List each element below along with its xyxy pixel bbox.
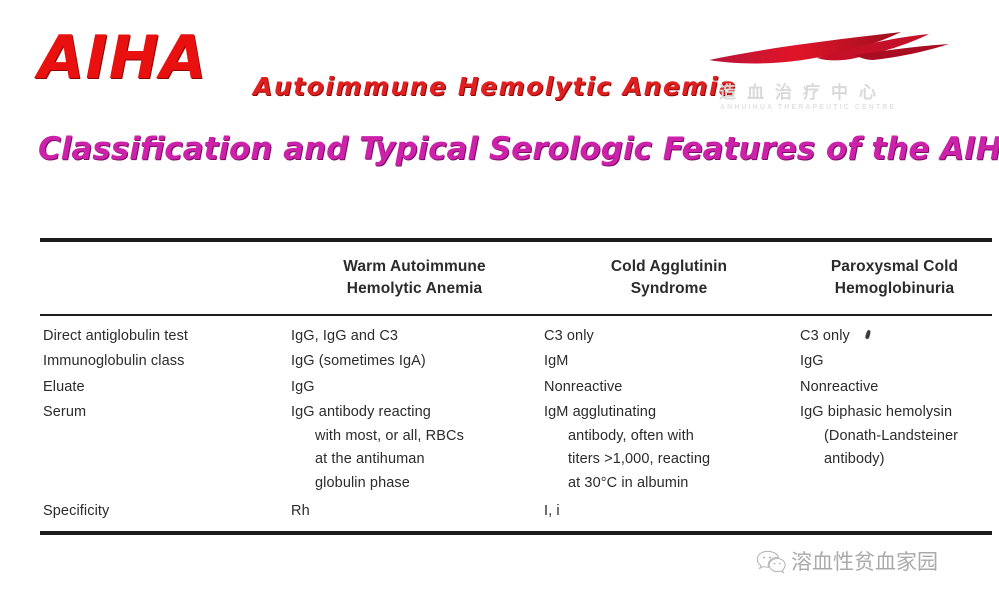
cell-line: I, i: [544, 500, 791, 523]
column-header-cold-line1: Cold Agglutinin: [545, 256, 793, 278]
row-label: Specificity: [40, 496, 288, 532]
row-cell-pch: C3 only: [797, 315, 992, 349]
column-header-warm-line2: Hemolytic Anemia: [292, 278, 537, 300]
table-header: Warm Autoimmune Hemolytic Anemia Cold Ag…: [40, 240, 992, 315]
row-cell-warm: Rh: [288, 496, 541, 532]
row-cell-pch: IgG biphasic hemolysin (Donath-Landstein…: [797, 400, 992, 496]
cell-line: C3 only: [544, 325, 791, 348]
cell-line: titers >1,000, reacting: [544, 448, 791, 471]
logo-chinese-text: 造血治疗中心: [719, 84, 969, 103]
row-cell-pch: Nonreactive: [797, 375, 992, 400]
slide-canvas: AIHA Autoimmune Hemolytic Anemia 造血治疗中心 …: [0, 0, 999, 609]
page-heading: Classification and Typical Serologic Fea…: [38, 131, 999, 167]
cell-line: Nonreactive: [800, 376, 986, 399]
cell-line: IgM agglutinating: [544, 401, 791, 424]
cell-line: antibody): [800, 448, 986, 471]
table-row: Specificity Rh I, i: [40, 496, 992, 532]
wechat-watermark: 溶血性贫血家园: [756, 546, 938, 576]
swoosh-icon: [705, 22, 985, 82]
row-label: Serum: [40, 400, 288, 496]
cell-line: antibody, often with: [544, 425, 791, 448]
column-header-cold: Cold Agglutinin Syndrome: [541, 240, 797, 315]
cell-line: (Donath-Landsteiner: [800, 425, 986, 448]
column-header-warm: Warm Autoimmune Hemolytic Anemia: [288, 240, 541, 315]
table-header-row: Warm Autoimmune Hemolytic Anemia Cold Ag…: [40, 240, 992, 315]
wechat-icon: [756, 548, 786, 574]
column-header-pch-line2: Hemoglobinuria: [801, 278, 988, 300]
cell-line: IgG: [291, 376, 535, 399]
serology-table: Warm Autoimmune Hemolytic Anemia Cold Ag…: [40, 238, 992, 535]
column-header-pch: Paroxysmal Cold Hemoglobinuria: [797, 240, 992, 315]
cell-line: C3 only: [800, 325, 986, 348]
cell-line: globulin phase: [291, 472, 535, 495]
cell-line: IgG biphasic hemolysin: [800, 401, 986, 424]
row-label: Immunoglobulin class: [40, 349, 288, 374]
logo-english-text: ANHUIHUA THERAPEUTIC CENTRE: [720, 104, 970, 111]
table-row: Serum IgG antibody reacting with most, o…: [40, 400, 992, 496]
column-header-warm-line1: Warm Autoimmune: [292, 256, 537, 278]
row-cell-cold: Nonreactive: [541, 375, 797, 400]
cell-line: IgG, IgG and C3: [291, 325, 535, 348]
column-header-cold-line2: Syndrome: [545, 278, 793, 300]
cell-line: IgM: [544, 350, 791, 373]
row-cell-cold: IgM: [541, 349, 797, 374]
page-title-acronym: AIHA: [38, 28, 207, 88]
row-cell-warm: IgG, IgG and C3: [288, 315, 541, 349]
cell-line: Nonreactive: [544, 376, 791, 399]
row-label: Eluate: [40, 375, 288, 400]
column-header-blank: [40, 240, 288, 315]
row-cell-warm: IgG: [288, 375, 541, 400]
cell-line: with most, or all, RBCs: [291, 425, 535, 448]
table-body: Direct antiglobulin test IgG, IgG and C3…: [40, 315, 992, 533]
table-row: Direct antiglobulin test IgG, IgG and C3…: [40, 315, 992, 349]
cell-line: IgG: [800, 350, 986, 373]
cell-line: IgG antibody reacting: [291, 401, 535, 424]
row-label: Direct antiglobulin test: [40, 315, 288, 349]
cell-line: IgG (sometimes IgA): [291, 350, 535, 373]
cell-line: Rh: [291, 500, 535, 523]
cell-line: at 30°C in albumin: [544, 472, 791, 495]
slide-header: AIHA Autoimmune Hemolytic Anemia 造血治疗中心 …: [0, 0, 999, 120]
row-cell-cold: IgM agglutinating antibody, often with t…: [541, 400, 797, 496]
row-cell-pch: [797, 496, 992, 532]
row-cell-cold: I, i: [541, 496, 797, 532]
table-row: Eluate IgG Nonreactive Nonreactive: [40, 375, 992, 400]
column-header-pch-line1: Paroxysmal Cold: [801, 256, 988, 278]
serology-table-container: Warm Autoimmune Hemolytic Anemia Cold Ag…: [40, 238, 960, 535]
row-cell-pch: IgG: [797, 349, 992, 374]
row-cell-warm: IgG (sometimes IgA): [288, 349, 541, 374]
cell-line: at the antihuman: [291, 448, 535, 471]
table-row: Immunoglobulin class IgG (sometimes IgA)…: [40, 349, 992, 374]
watermark-text: 溶血性贫血家园: [791, 546, 938, 576]
organization-logo: 造血治疗中心 ANHUIHUA THERAPEUTIC CENTRE: [705, 22, 985, 117]
row-cell-cold: C3 only: [541, 315, 797, 349]
row-cell-warm: IgG antibody reacting with most, or all,…: [288, 400, 541, 496]
page-title-expansion: Autoimmune Hemolytic Anemia: [253, 74, 737, 99]
